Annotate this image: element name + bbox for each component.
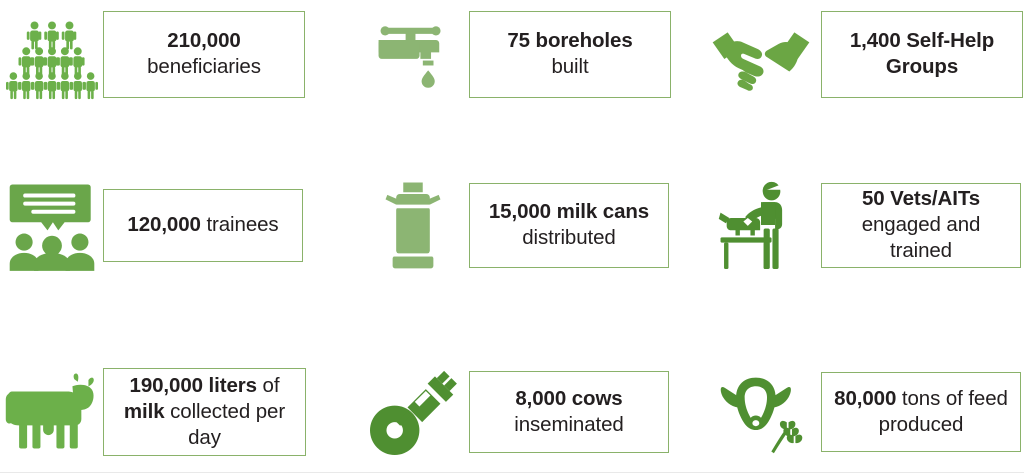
stat-text: 210,000beneficiaries [147,28,261,80]
statbox-feed-produced: 80,000 tons of feed produced [821,372,1021,452]
handshake-icon [701,0,821,108]
stat-text: 15,000 milk cansdistributed [489,199,649,251]
statbox-milk-collected: 190,000 liters ofmilk collected per day [103,368,306,456]
infographic-sheet: 210,000beneficiaries 75 boreholesbuilt [0,0,1024,476]
statbox-beneficiaries: 210,000beneficiaries [103,11,305,98]
stat-cell-feed-produced: 80,000 tons of feed produced [701,352,1021,472]
cow-head-wheat-icon [701,352,821,472]
stat-text: 75 boreholesbuilt [507,28,632,80]
statbox-self-help-groups: 1,400 Self-Help Groups [821,11,1023,98]
people-pyramid-icon [0,0,103,108]
stat-cell-milk-collected: 190,000 liters ofmilk collected per day [0,352,306,472]
statbox-cows-inseminated: 8,000 cowsinseminated [469,371,669,453]
statbox-trainees: 120,000 trainees [103,189,303,262]
stat-cell-boreholes: 75 boreholesbuilt [356,0,671,108]
stat-text: 50 Vets/AITsengaged and trained [830,186,1012,265]
bottom-divider [0,472,1024,473]
stat-cell-self-help-groups: 1,400 Self-Help Groups [701,0,1023,108]
veterinarian-icon [701,166,821,284]
water-tap-icon [356,0,469,108]
stat-text: 1,400 Self-Help Groups [830,28,1014,80]
stat-text: 120,000 trainees [127,212,278,238]
stat-cell-milk-cans: 15,000 milk cansdistributed [356,166,669,284]
stat-cell-vets-aits: 50 Vets/AITsengaged and trained [701,166,1021,284]
stat-text: 8,000 cowsinseminated [514,386,623,438]
statbox-boreholes: 75 boreholesbuilt [469,11,671,98]
stat-cell-beneficiaries: 210,000beneficiaries [0,0,305,108]
syringe-icon [356,352,469,472]
training-group-icon [0,166,103,284]
statbox-vets-aits: 50 Vets/AITsengaged and trained [821,183,1021,268]
stat-cell-cows-inseminated: 8,000 cowsinseminated [356,352,669,472]
statbox-milk-cans: 15,000 milk cansdistributed [469,183,669,268]
stat-text: 80,000 tons of feed produced [830,386,1012,438]
cow-side-icon [0,352,103,472]
stat-cell-trainees: 120,000 trainees [0,166,303,284]
stat-text: 190,000 liters ofmilk collected per day [112,373,297,452]
milk-can-icon [356,166,469,284]
